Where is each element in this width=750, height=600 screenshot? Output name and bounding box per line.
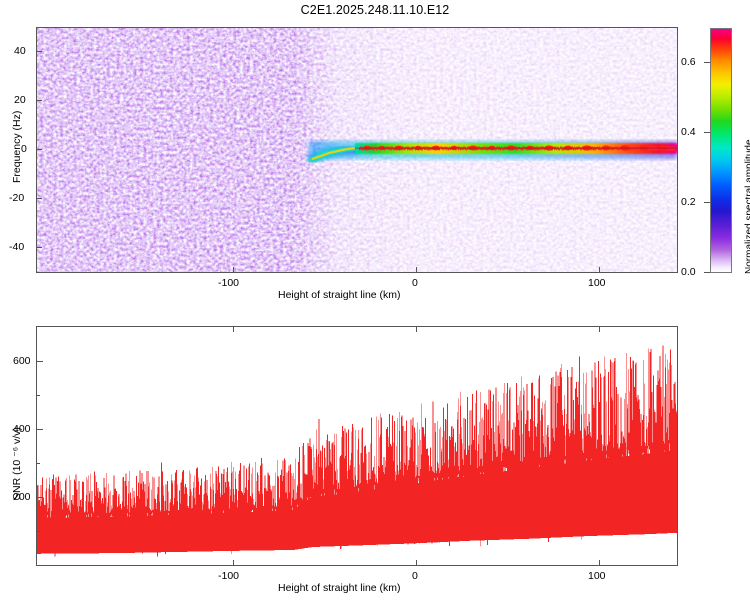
cbar-tick-06 [704, 62, 710, 63]
colorbar-title: Normalized spectral amplitude [744, 139, 750, 274]
snr-plot-area [36, 326, 678, 566]
snr-xtick-top-0 [416, 326, 417, 332]
spectrogram-canvas [37, 28, 677, 272]
snr-yaxis-label: SNR (10 ⁻⁶ v/v) [11, 427, 23, 500]
snr-xtick-100 [599, 560, 600, 566]
spec-xtick-label-neg100: -100 [218, 277, 239, 289]
snr-xtick-0 [416, 560, 417, 566]
snr-yminor-2 [36, 463, 40, 464]
spec-ytick-label-neg20: -20 [9, 192, 24, 204]
spectrogram-yaxis-label: Frequency (Hz) [11, 111, 23, 183]
spec-ytick-40 [36, 51, 42, 52]
cbar-label-04: 0.4 [681, 126, 696, 138]
spec-ytick-label-neg40: -40 [9, 241, 24, 253]
spec-ytick-neg20 [36, 198, 42, 199]
cbar-tick-02 [704, 202, 710, 203]
cbar-tick-0 [704, 272, 710, 273]
colorbar [710, 28, 732, 273]
snr-xtick-top-neg100 [233, 326, 234, 332]
snr-canvas [37, 327, 677, 565]
cbar-label-0: 0.0 [681, 266, 696, 278]
signal-trace [309, 141, 677, 161]
snr-yminor-3 [36, 531, 40, 532]
figure-title: C2E1.2025.248.11.10.E12 [0, 3, 750, 17]
spec-ytick-label-40: 40 [14, 45, 26, 57]
spectrogram-xaxis-label: Height of straight line (km) [278, 289, 401, 301]
spectrogram-plot-area [36, 27, 678, 273]
snr-ytick-label-600: 600 [13, 355, 31, 367]
snr-ytick-600 [36, 361, 43, 362]
cbar-label-02: 0.2 [681, 196, 696, 208]
spec-ytick-0 [36, 149, 42, 150]
spec-xtick-label-100: 100 [588, 277, 606, 289]
spec-xtick-0 [416, 267, 417, 273]
snr-ytick-400 [36, 429, 43, 430]
snr-xtick-top-100 [599, 326, 600, 332]
snr-xtick-neg100 [233, 560, 234, 566]
snr-xtick-label-neg100: -100 [218, 570, 239, 582]
spec-xtick-neg100 [233, 267, 234, 273]
snr-xtick-label-100: 100 [588, 570, 606, 582]
figure-root: C2E1.2025.248.11.10.E12 [0, 0, 750, 600]
snr-ytick-200 [36, 497, 43, 498]
spec-xtick-label-0: 0 [412, 277, 418, 289]
spec-ytick-neg40 [36, 247, 42, 248]
spec-xtick-100 [599, 267, 600, 273]
snr-xaxis-label: Height of straight line (km) [278, 582, 401, 594]
cbar-tick-04 [704, 132, 710, 133]
spec-ytick-label-20: 20 [14, 94, 26, 106]
cbar-label-06: 0.6 [681, 56, 696, 68]
snr-xtick-label-0: 0 [412, 570, 418, 582]
snr-yminor-1 [36, 395, 40, 396]
spec-ytick-20 [36, 100, 42, 101]
